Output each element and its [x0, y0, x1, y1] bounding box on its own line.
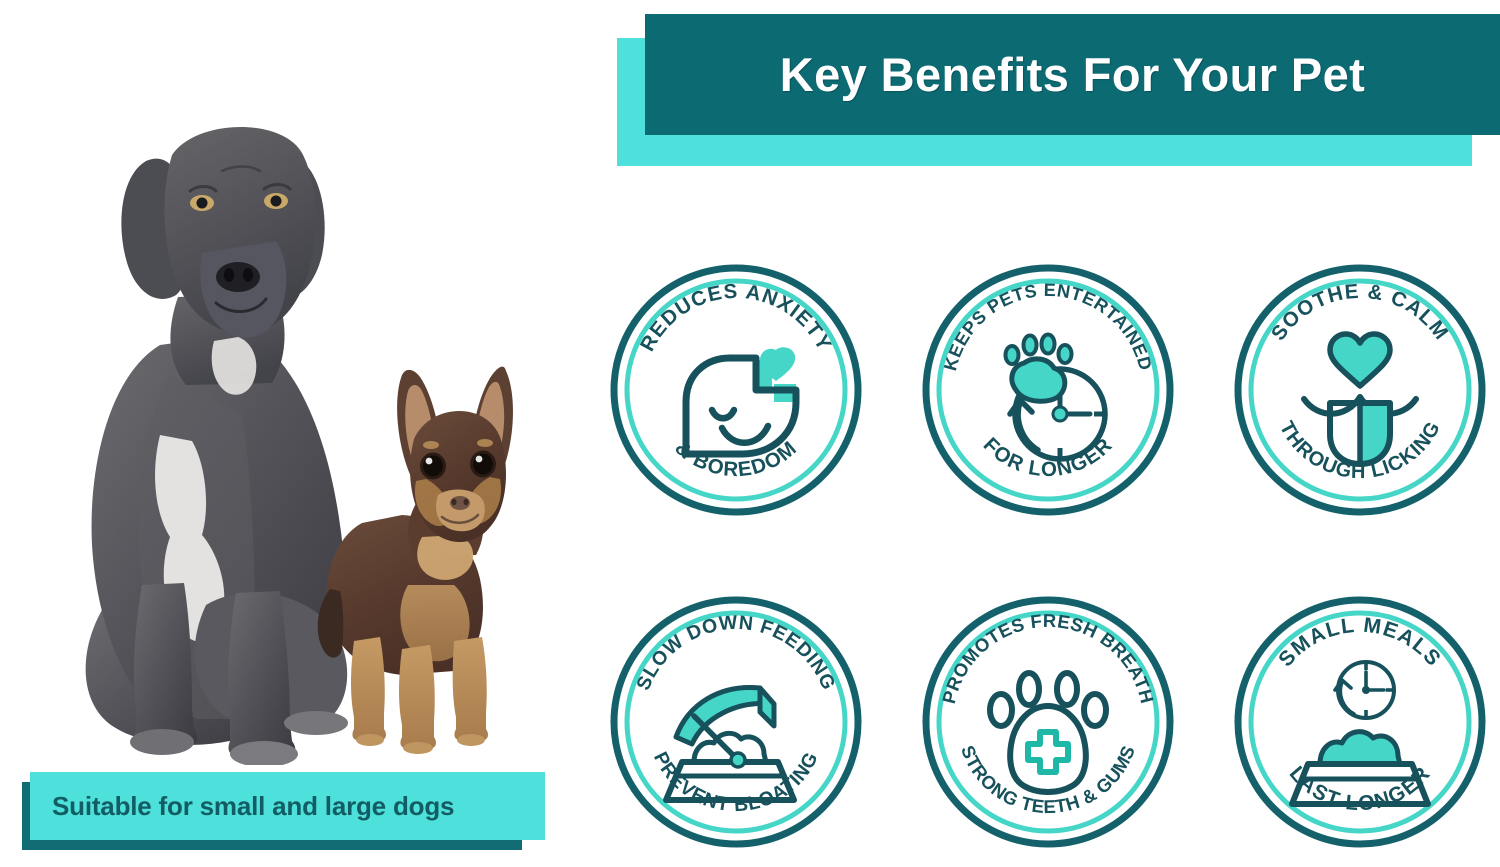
left-panel: Suitable for small and large dogs: [0, 0, 600, 867]
page-title: Key Benefits For Your Pet: [780, 47, 1365, 102]
badge-small-meals[interactable]: SMALL MEALS LAST LONGER: [1232, 594, 1488, 850]
badge-soothe-and-calm[interactable]: SOOTHE & CALM THROUGH LICKING: [1232, 262, 1488, 518]
header-title-bar: Key Benefits For Your Pet: [645, 14, 1500, 135]
great-dane-and-chihuahua-photo: [10, 45, 590, 765]
benefits-badge-grid: REDUCES ANXIETY & BOREDOM: [600, 262, 1500, 862]
chihuahua-illustration: [318, 367, 513, 754]
badge-promotes-fresh-breath[interactable]: PROMOTES FRESH BREATH STRONG TEETH & GUM…: [920, 594, 1176, 850]
caption-text: Suitable for small and large dogs: [52, 791, 454, 822]
badge-reduces-anxiety[interactable]: REDUCES ANXIETY & BOREDOM: [608, 262, 864, 518]
badge-slow-down-feeding[interactable]: SLOW DOWN FEEDING PREVENT BLOATING: [608, 594, 864, 850]
caption-banner-box: Suitable for small and large dogs: [30, 772, 545, 840]
badge-keeps-pets-entertained[interactable]: KEEPS PETS ENTERTAINED FOR LONGER: [920, 262, 1176, 518]
great-dane-illustration: [86, 127, 348, 765]
infographic-page: Suitable for small and large dogs Key Be…: [0, 0, 1500, 867]
caption-banner: Suitable for small and large dogs: [22, 772, 545, 850]
header-banner: Key Benefits For Your Pet: [617, 14, 1500, 166]
